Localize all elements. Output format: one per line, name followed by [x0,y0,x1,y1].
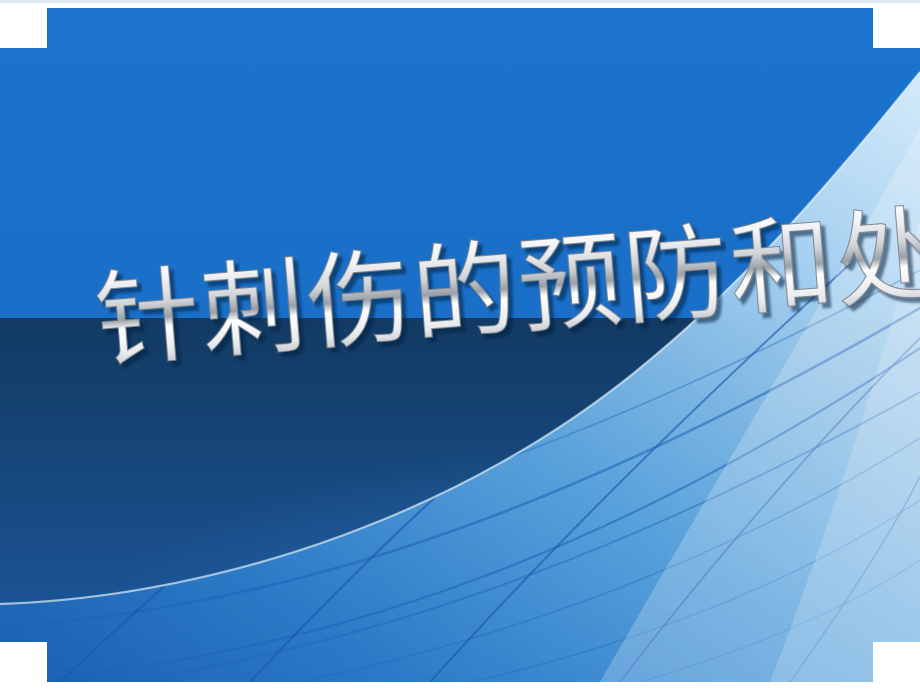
background-band-upper [0,8,920,318]
top-hairline-rule [0,0,920,3]
background-band-lower [0,318,920,682]
title-slide: 针刺伤的预防和处理 [0,0,920,690]
slide-canvas: 针刺伤的预防和处理 [0,8,920,682]
